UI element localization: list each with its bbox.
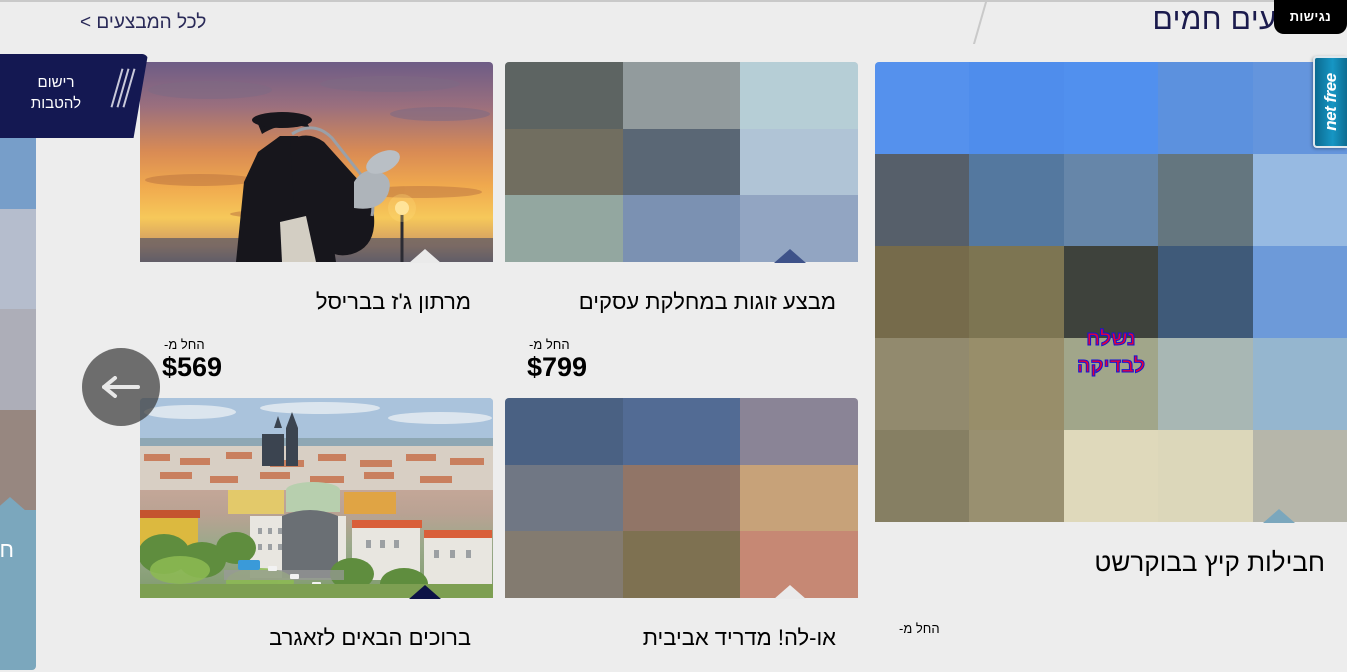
ribbon-line-1: רישום [0, 72, 112, 93]
price-prefix: החל מ- [527, 338, 836, 352]
card-notch [774, 249, 806, 263]
mosaic-placeholder-left [0, 108, 36, 510]
netfree-badge[interactable]: net free [1313, 56, 1347, 148]
deal-card-zagreb[interactable]: ברוכים הבאים לזאגרב [140, 398, 493, 670]
deal-card-madrid[interactable]: או-לה! מדריד אביבית [505, 398, 858, 670]
header-divider [0, 0, 1347, 2]
all-deals-link[interactable]: לכל המבצעים > [80, 12, 206, 34]
header-slash-decoration [965, 0, 995, 44]
card-body: מבצע זוגות במחלקת עסקים החל מ- $799 [505, 262, 858, 392]
card-title: או-לה! מדריד אביבית [527, 624, 836, 652]
price-value: $569 [162, 352, 471, 382]
mosaic-placeholder-cool [505, 62, 858, 262]
carousel-prev-button[interactable] [82, 348, 160, 426]
card-body: חבילות קיץ בבוקרשט החל מ- [875, 522, 1347, 672]
ribbon-text: רישום להטבות [0, 72, 112, 114]
card-price: החל מ- $799 [527, 338, 836, 382]
card-notch [409, 249, 441, 263]
mosaic-placeholder-large [875, 62, 1347, 522]
price-value: $799 [527, 352, 836, 382]
card-media: נשלח לבדיקה [875, 62, 1347, 522]
card-body: או-לה! מדריד אביבית [505, 598, 858, 670]
card-title: מבצע זוגות במחלקת עסקים [527, 288, 836, 316]
card-notch [409, 585, 441, 599]
deals-board: חבילות [0, 46, 1347, 670]
card-title: מרתון ג'ז בבריסל [162, 288, 471, 316]
zagreb-cityscape-photo [140, 398, 493, 598]
card-media [140, 398, 493, 598]
card-price: החל מ- $569 [162, 338, 471, 382]
mosaic-placeholder-warm [505, 398, 858, 598]
card-notch [0, 497, 26, 511]
saxophonist-photo [140, 62, 493, 262]
page-header: מבצעים חמים לכל המבצעים > [0, 0, 1347, 46]
ribbon-line-2: להטבות [0, 93, 112, 114]
price-prefix: החל מ- [897, 622, 1325, 636]
card-media [140, 62, 493, 262]
netfree-badge-label: net free [1321, 73, 1341, 130]
deal-card-brussels-jazz[interactable]: מרתון ג'ז בבריסל החל מ- $569 [140, 62, 493, 392]
card-notch [1263, 509, 1295, 523]
deal-card-partial-left[interactable]: חבילות [0, 108, 36, 670]
card-media [505, 62, 858, 262]
card-notch [774, 585, 806, 599]
deal-card-business-class[interactable]: מבצע זוגות במחלקת עסקים החל מ- $799 [505, 62, 858, 392]
card-title: חבילות [0, 536, 14, 564]
ribbon-stripes-icon [114, 68, 138, 124]
card-media [0, 108, 36, 510]
deal-card-bucharest[interactable]: נשלח לבדיקה חבילות קיץ בבוקרשט החל מ- [875, 62, 1347, 672]
card-title: ברוכים הבאים לזאגרב [162, 624, 471, 652]
accessibility-button[interactable]: נגישות [1274, 0, 1347, 34]
price-prefix: החל מ- [162, 338, 471, 352]
card-body: ברוכים הבאים לזאגרב [140, 598, 493, 670]
card-media [505, 398, 858, 598]
card-price: החל מ- [897, 622, 1325, 636]
arrow-left-icon [102, 376, 140, 398]
register-benefits-ribbon[interactable]: רישום להטבות [0, 54, 140, 138]
card-title: חבילות קיץ בבוקרשט [897, 548, 1325, 576]
card-body: מרתון ג'ז בבריסל החל מ- $569 [140, 262, 493, 392]
card-body: חבילות [0, 510, 36, 670]
